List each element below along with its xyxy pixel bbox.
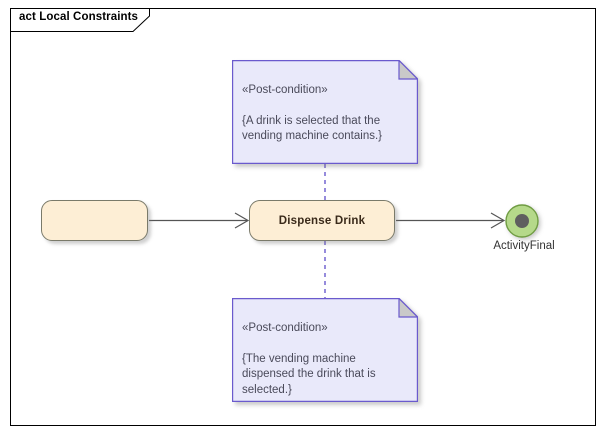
note-text-bottom: «Post-condition» {The vending machine di…	[242, 305, 410, 398]
activity-final-node[interactable]	[504, 203, 540, 239]
activity-final-label: ActivityFinal	[484, 240, 564, 252]
note-post-condition-bottom[interactable]: «Post-condition» {The vending machine di…	[232, 298, 418, 402]
activity-final-icon	[504, 203, 540, 239]
initial-action-node[interactable]	[41, 200, 148, 241]
note-body-top: {A drink is selected that the vending ma…	[242, 115, 382, 143]
note-stereotype-bottom: «Post-condition»	[242, 321, 410, 337]
frame-name-label: act Local Constraints	[19, 11, 138, 23]
note-post-condition-top[interactable]: «Post-condition» {A drink is selected th…	[232, 60, 418, 164]
note-text-top: «Post-condition» {A drink is selected th…	[242, 67, 410, 145]
diagram-canvas: act Local Constraints Dispense Drink	[0, 0, 609, 437]
note-body-bottom: {The vending machine dispensed the drink…	[242, 353, 376, 396]
dispense-drink-action-label: Dispense Drink	[279, 215, 366, 227]
dispense-drink-action-node[interactable]: Dispense Drink	[249, 200, 395, 241]
note-stereotype-top: «Post-condition»	[242, 83, 410, 99]
frame-name-tab: act Local Constraints	[10, 8, 150, 31]
